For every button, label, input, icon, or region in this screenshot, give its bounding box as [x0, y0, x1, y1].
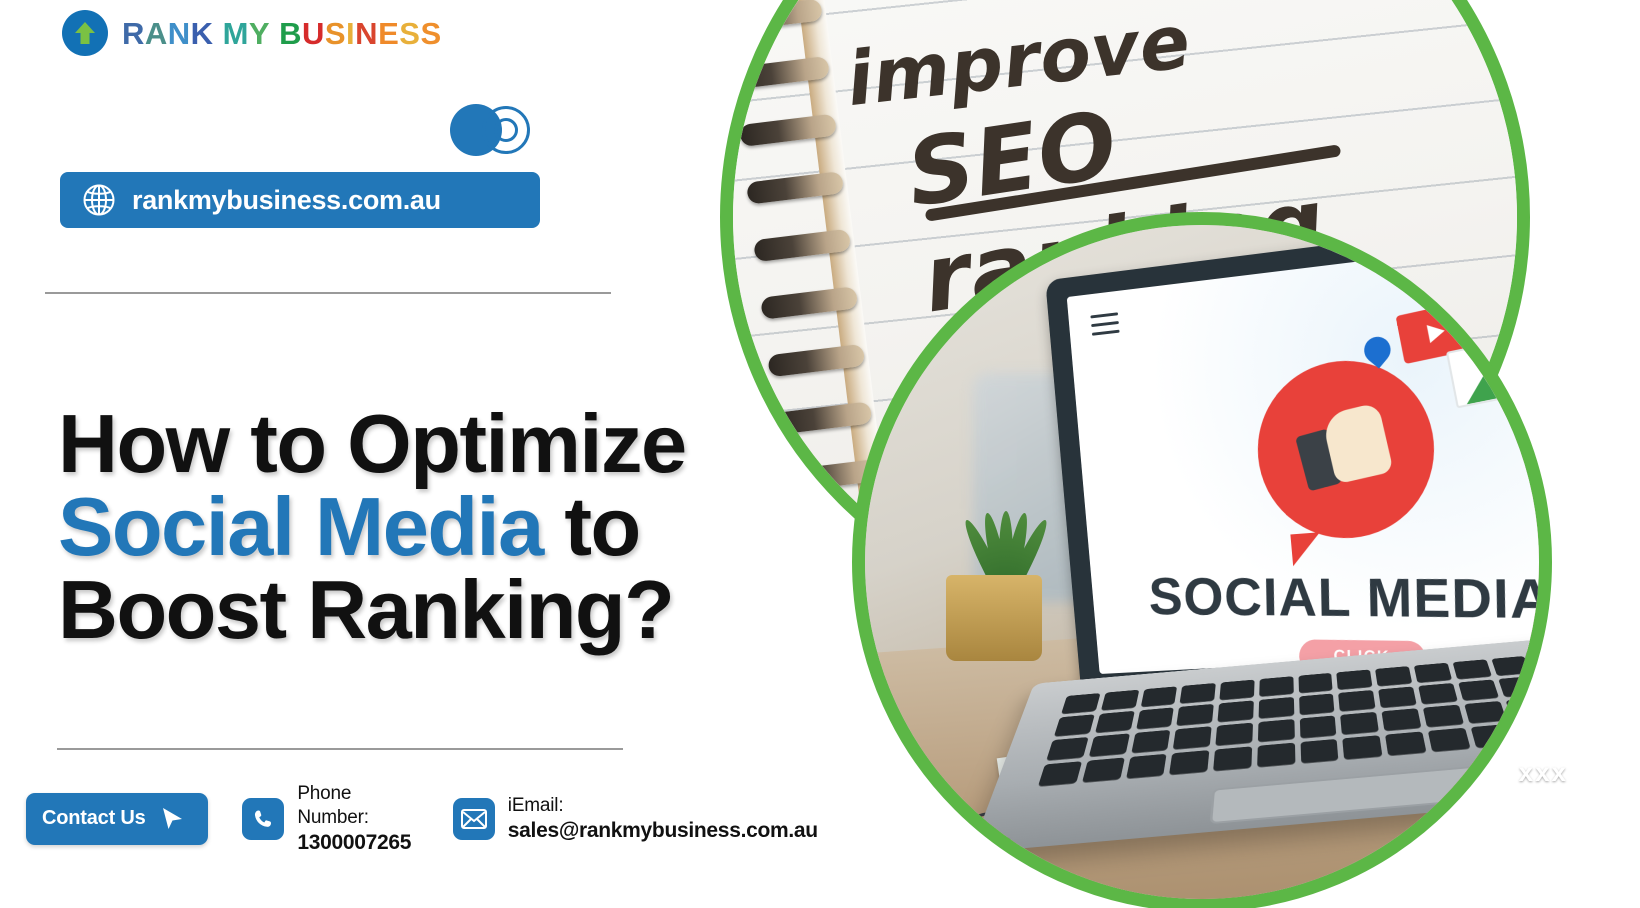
- contact-bar: Contact Us Phone Number: 1300007265: [26, 782, 818, 856]
- location-pin-icon: [1359, 331, 1396, 368]
- social-media-seo-banner: improve SEO ranking: [0, 0, 1640, 908]
- overlapping-circles-decoration: [450, 104, 532, 156]
- content-panel: RANKMYBUSINESS rankmybusiness.com.au How…: [0, 0, 760, 908]
- page-title-accent: Social Media: [58, 480, 543, 573]
- artwork-panel: improve SEO ranking: [720, 0, 1640, 908]
- screen-title: SOCIAL MEDIA: [1148, 567, 1552, 632]
- divider-top: [45, 292, 611, 294]
- up-arrow-circle-icon: [62, 10, 108, 56]
- laptop-screen: SOCIAL MEDIA CLICK Lorem ipsum dolor sit…: [1067, 239, 1552, 674]
- brand-wordmark: RANKMYBUSINESS: [122, 18, 442, 49]
- contact-email-text: iEmail: sales@rankmybusiness.com.au: [508, 794, 818, 844]
- hamburger-menu-icon[interactable]: [1090, 312, 1120, 341]
- cursor-arrow-icon: [156, 804, 186, 834]
- envelope-icon: [453, 798, 495, 840]
- contact-us-button-label: Contact Us: [42, 807, 146, 830]
- contact-email-value: sales@rankmybusiness.com.au: [508, 818, 818, 844]
- website-url-text: rankmybusiness.com.au: [132, 185, 441, 216]
- inner-ring-circle: [494, 118, 518, 142]
- website-url-pill[interactable]: rankmybusiness.com.au: [60, 172, 540, 228]
- contact-phone-label: Phone Number:: [297, 782, 418, 830]
- laptop-base: [970, 631, 1552, 852]
- brand-logo[interactable]: RANKMYBUSINESS: [62, 10, 442, 56]
- page-title: How to Optimize Social Media to Boost Ra…: [58, 402, 758, 651]
- watermark-text: xxx: [1519, 757, 1568, 788]
- laptop-lid: SOCIAL MEDIA CLICK Lorem ipsum dolor sit…: [1045, 216, 1552, 690]
- contact-phone[interactable]: Phone Number: 1300007265: [242, 782, 418, 856]
- social-mini-icons: [1357, 294, 1552, 427]
- laptop-device: SOCIAL MEDIA CLICK Lorem ipsum dolor sit…: [998, 221, 1552, 908]
- phone-icon: [242, 798, 284, 840]
- laptop-circle-image: SOCIAL MEDIA CLICK Lorem ipsum dolor sit…: [852, 212, 1552, 908]
- contact-phone-value: 1300007265: [297, 830, 418, 856]
- divider-bottom: [57, 748, 623, 750]
- contact-email-label: iEmail:: [508, 794, 818, 818]
- globe-icon: [82, 183, 116, 217]
- heart-icon: [1512, 308, 1552, 346]
- contact-us-button[interactable]: Contact Us: [26, 793, 208, 845]
- contact-email[interactable]: iEmail: sales@rankmybusiness.com.au: [453, 794, 818, 844]
- contact-phone-text: Phone Number: 1300007265: [297, 782, 418, 856]
